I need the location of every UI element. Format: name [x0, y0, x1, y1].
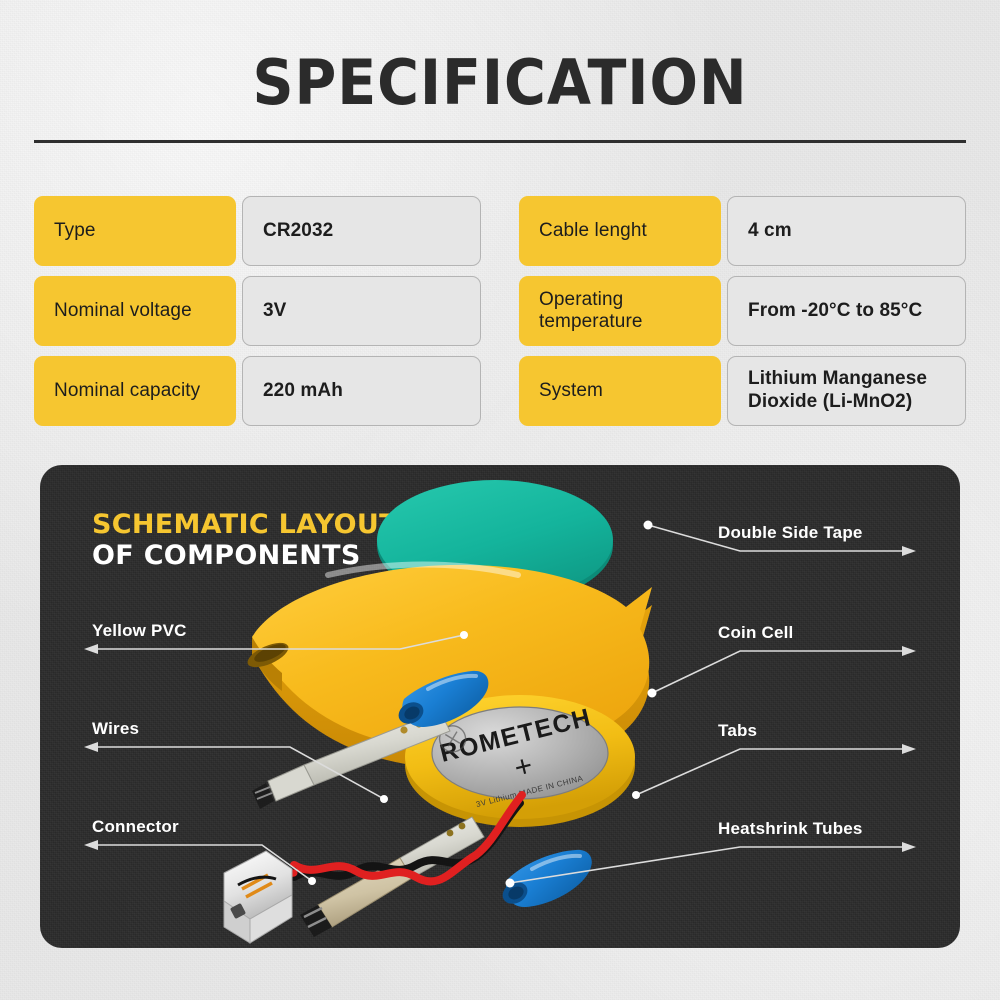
- page-title: SPECIFICATION: [40, 52, 960, 114]
- callout-yellow-pvc: Yellow PVC: [92, 621, 187, 641]
- spec-value: 220 mAh: [242, 356, 481, 426]
- spec-row: Cable lenght 4 cm: [519, 196, 966, 266]
- spec-value: CR2032: [242, 196, 481, 266]
- spec-row: Nominal voltage 3V: [34, 276, 481, 346]
- spec-label: Operating temperature: [519, 276, 721, 346]
- callout-connector: Connector: [92, 817, 179, 837]
- spec-column-left: Type CR2032 Nominal voltage 3V Nominal c…: [34, 196, 481, 426]
- schematic-panel: SCHEMATIC LAYOUT OF COMPONENTS: [40, 465, 960, 948]
- callout-heatshrink-tubes: Heatshrink Tubes: [718, 819, 863, 839]
- callout-coin-cell: Coin Cell: [718, 623, 793, 643]
- spec-row: Type CR2032: [34, 196, 481, 266]
- specification-table: Type CR2032 Nominal voltage 3V Nominal c…: [34, 196, 966, 426]
- callout-tabs: Tabs: [718, 721, 757, 741]
- spec-label: Type: [34, 196, 236, 266]
- title-divider: [34, 140, 966, 143]
- heatshrink-tube-lower-part: [499, 850, 592, 908]
- callout-wires: Wires: [92, 719, 139, 739]
- spec-row: System Lithium Manganese Dioxide (Li-MnO…: [519, 356, 966, 426]
- page-root: SPECIFICATION Type CR2032 Nominal voltag…: [0, 0, 1000, 1000]
- spec-label: Nominal voltage: [34, 276, 236, 346]
- spec-value: 3V: [242, 276, 481, 346]
- spec-label: Nominal capacity: [34, 356, 236, 426]
- connector-part: [224, 851, 292, 943]
- spec-label: Cable lenght: [519, 196, 721, 266]
- callout-double-side-tape: Double Side Tape: [718, 523, 863, 543]
- spec-value: 4 cm: [727, 196, 966, 266]
- spec-label: System: [519, 356, 721, 426]
- spec-value: Lithium Manganese Dioxide (Li-MnO2): [727, 356, 966, 426]
- spec-column-right: Cable lenght 4 cm Operating temperature …: [519, 196, 966, 426]
- spec-row: Nominal capacity 220 mAh: [34, 356, 481, 426]
- spec-row: Operating temperature From -20°C to 85°C: [519, 276, 966, 346]
- spec-value: From -20°C to 85°C: [727, 276, 966, 346]
